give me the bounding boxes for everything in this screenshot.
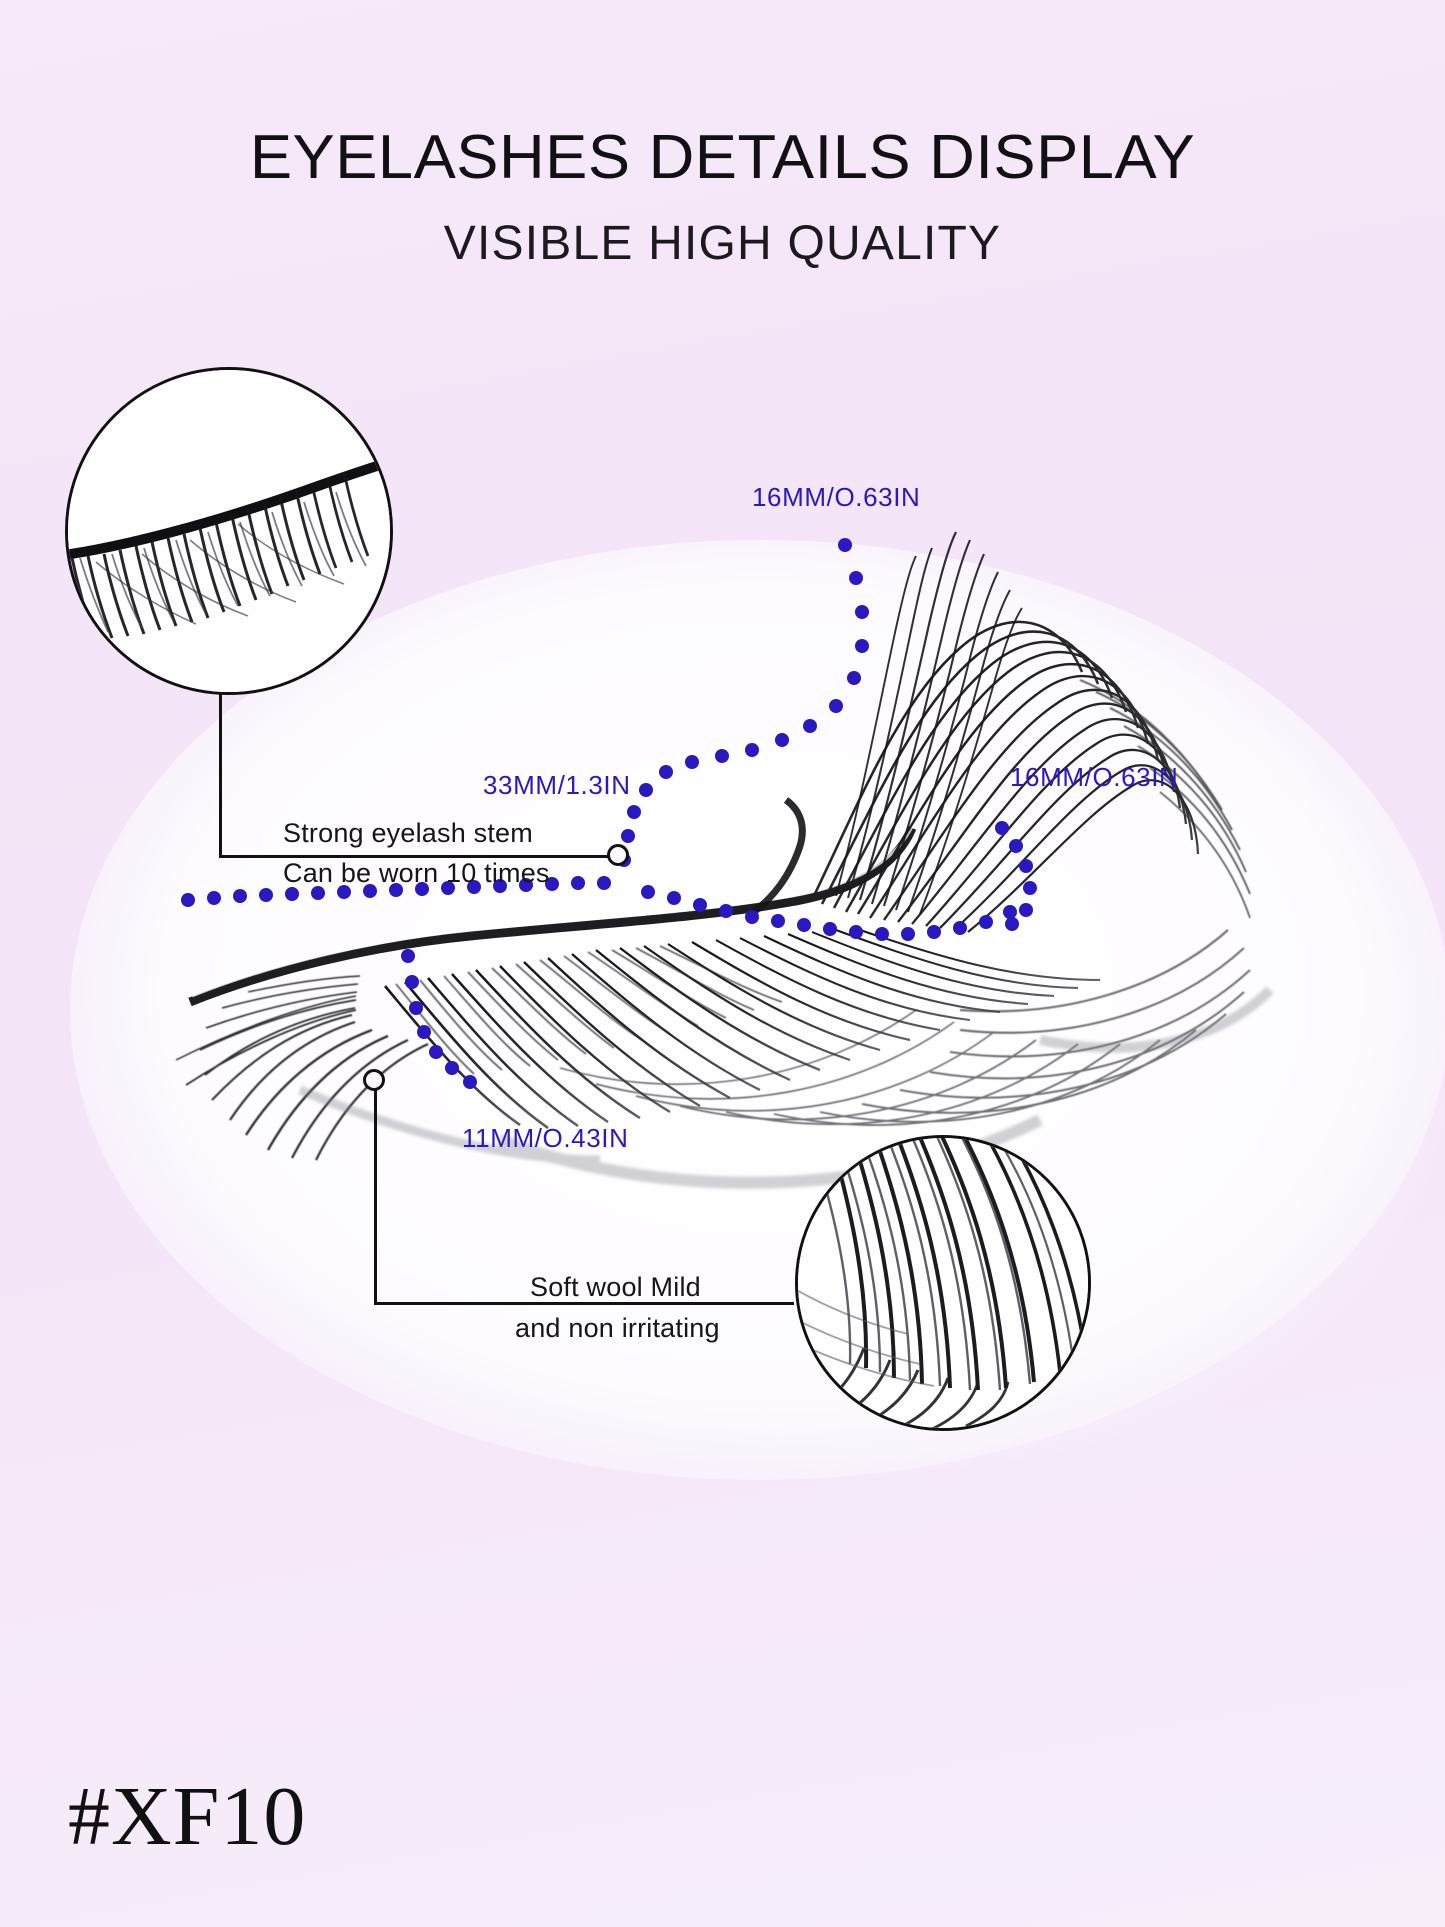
sku-label: #XF10 [68,1768,306,1865]
measurement-label-bottom: 11MM/O.43IN [462,1123,629,1154]
detail-fiber-image [798,1138,1088,1428]
callout-wool-line1: Soft wool Mild [530,1272,701,1303]
page-subtitle: VISIBLE HIGH QUALITY [0,216,1445,271]
detail-circle-fiber [795,1135,1091,1431]
leader-node-wool [363,1069,385,1091]
leader-line-wool-vertical [374,1080,377,1305]
measurement-label-top: 16MM/O.63IN [752,482,920,513]
background [0,0,1445,1927]
measurement-label-right: 16MM/O.63IN [1010,762,1178,793]
callout-wool-line2: and non irritating [515,1313,720,1344]
measurement-label-band: 33MM/1.3IN [483,770,631,801]
poster-canvas: EYELASHES DETAILS DISPLAY VISIBLE HIGH Q… [0,0,1445,1927]
leader-line-stem-vertical [219,688,222,858]
leader-node-stem [607,844,629,866]
page-title: EYELASHES DETAILS DISPLAY [0,122,1445,193]
detail-band-image [68,370,390,692]
callout-stem-line2: Can be worn 10 times [283,858,550,889]
detail-circle-band [65,367,393,695]
callout-stem-line1: Strong eyelash stem [283,818,533,849]
